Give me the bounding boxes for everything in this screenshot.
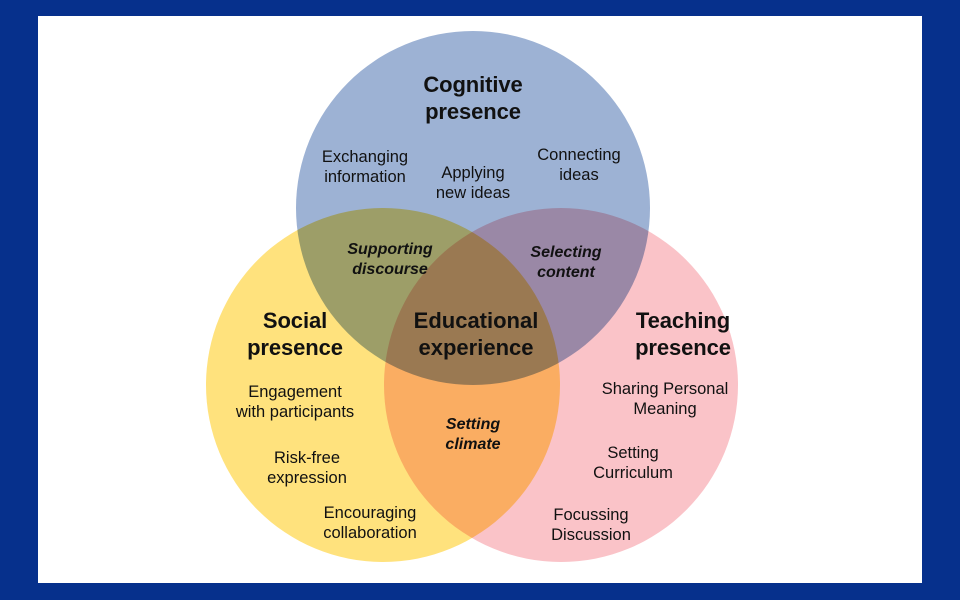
slide-canvas: Cognitive presence Exchanging informatio… (0, 0, 960, 600)
venn-circles-graphic (0, 0, 960, 600)
circle-teaching[interactable] (384, 208, 738, 562)
venn-diagram: Cognitive presence Exchanging informatio… (0, 0, 960, 600)
